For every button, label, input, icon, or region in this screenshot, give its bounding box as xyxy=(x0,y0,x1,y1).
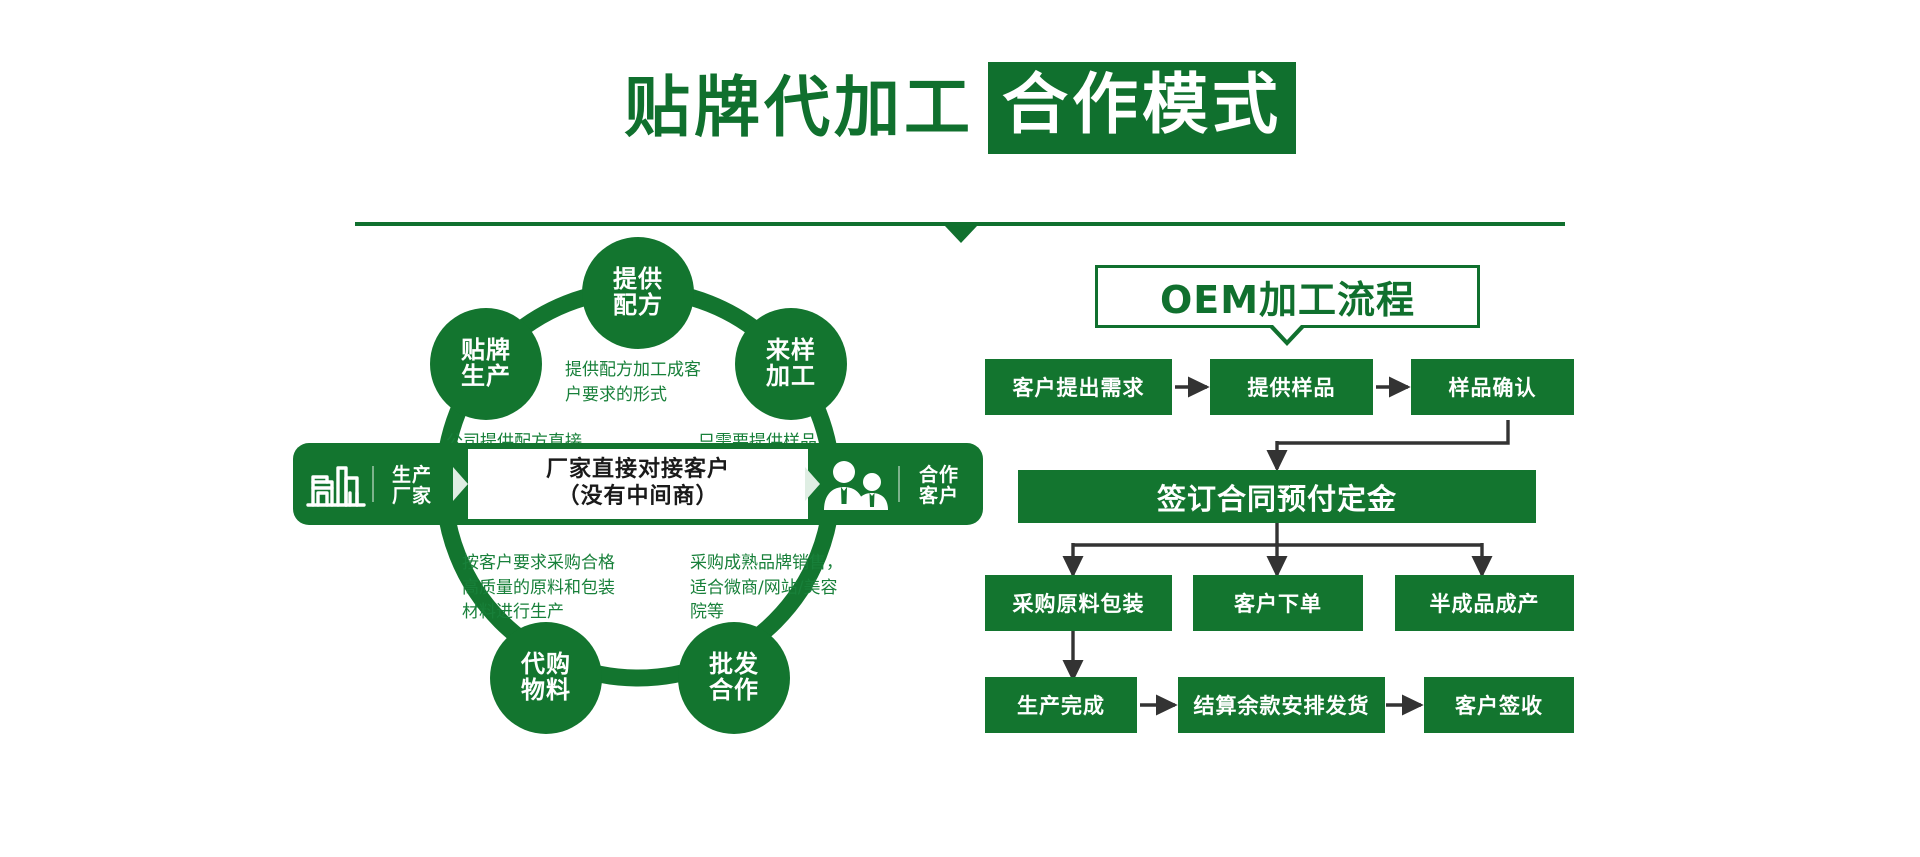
center-bar-right-label-line2: 客户 xyxy=(919,485,959,507)
chevron-right-icon-right xyxy=(805,467,820,501)
flow-box-4-1[interactable]: 生产完成 xyxy=(985,677,1137,733)
center-bar-right-label-line1: 合作 xyxy=(919,464,959,486)
customers-icon xyxy=(820,460,894,515)
flow-box-1-2[interactable]: 提供样品 xyxy=(1210,359,1373,415)
node-tigong-peifang-line1: 提供 xyxy=(613,267,663,293)
page-title: 贴牌代加工 合作模式 xyxy=(0,62,1920,154)
center-bar-headline-line2: （没有中间商） xyxy=(557,484,718,511)
center-bar-left-divider xyxy=(372,466,374,502)
center-bar-left-label: 生产 厂家 xyxy=(381,465,443,508)
flow-box-4-2[interactable]: 结算余款安排发货 xyxy=(1178,677,1385,733)
node-daigou-wuliao-line2: 物料 xyxy=(521,678,571,704)
caption-tigong-peifang: 提供配方加工成客 户要求的形式 xyxy=(565,358,785,407)
flow-box-3-3[interactable]: 半成品成产 xyxy=(1395,575,1574,631)
node-tigong-peifang-line2: 配方 xyxy=(613,293,663,319)
flow-box-4-3[interactable]: 客户签收 xyxy=(1424,677,1574,733)
page-title-boxed: 合作模式 xyxy=(988,62,1296,154)
header-divider-caret-icon xyxy=(945,226,977,243)
flow-box-2-1[interactable]: 签订合同预付定金 xyxy=(1018,470,1536,523)
flow-box-1-1[interactable]: 客户提出需求 xyxy=(985,359,1172,415)
center-bar-right-label: 合作 客户 xyxy=(908,465,970,508)
oem-flowchart: OEM加工流程 客户提出需 xyxy=(985,255,1585,775)
center-bar-headline: 厂家直接对接客户 （没有中间商） xyxy=(468,449,808,519)
node-pifa-hezuo-line1: 批发 xyxy=(709,652,759,678)
center-bar-left-label-line1: 生产 xyxy=(392,464,432,486)
flow-box-3-1[interactable]: 采购原料包装 xyxy=(985,575,1172,631)
page-title-plain: 贴牌代加工 xyxy=(624,75,974,141)
cycle-diagram: 提供 配方 来样 加工 批发 合作 代购 物料 贴牌 生产 提供配方加工成客 户… xyxy=(350,255,930,775)
caption-pifa-hezuo: 采购成熟品牌销售， 适合微商/网站/美容 院等 xyxy=(690,551,900,625)
node-daigou-wuliao-line1: 代购 xyxy=(521,652,571,678)
node-tiepai-shengchan-line1: 贴牌 xyxy=(461,338,511,364)
node-daigou-wuliao[interactable]: 代购 物料 xyxy=(490,622,602,734)
factory-icon xyxy=(305,460,367,515)
node-pifa-hezuo-line2: 合作 xyxy=(709,678,759,704)
node-tiepai-shengchan-line2: 生产 xyxy=(461,364,511,390)
chevron-right-icon-left xyxy=(453,467,468,501)
center-bar-left-label-line2: 厂家 xyxy=(392,485,432,507)
flow-box-3-2[interactable]: 客户下单 xyxy=(1193,575,1363,631)
node-tigong-peifang[interactable]: 提供 配方 xyxy=(582,237,694,349)
center-bar-right-divider xyxy=(898,466,900,502)
flow-box-1-3[interactable]: 样品确认 xyxy=(1411,359,1574,415)
center-bar: 生产 厂家 厂家直接对接客户 （没有中间商） xyxy=(293,443,983,525)
center-bar-headline-line1: 厂家直接对接客户 xyxy=(546,457,730,484)
node-tiepai-shengchan[interactable]: 贴牌 生产 xyxy=(430,308,542,420)
node-pifa-hezuo[interactable]: 批发 合作 xyxy=(678,622,790,734)
caption-daigou-wuliao: 按客户要求采购合格 高质量的原料和包装 材料进行生产 xyxy=(462,551,687,625)
